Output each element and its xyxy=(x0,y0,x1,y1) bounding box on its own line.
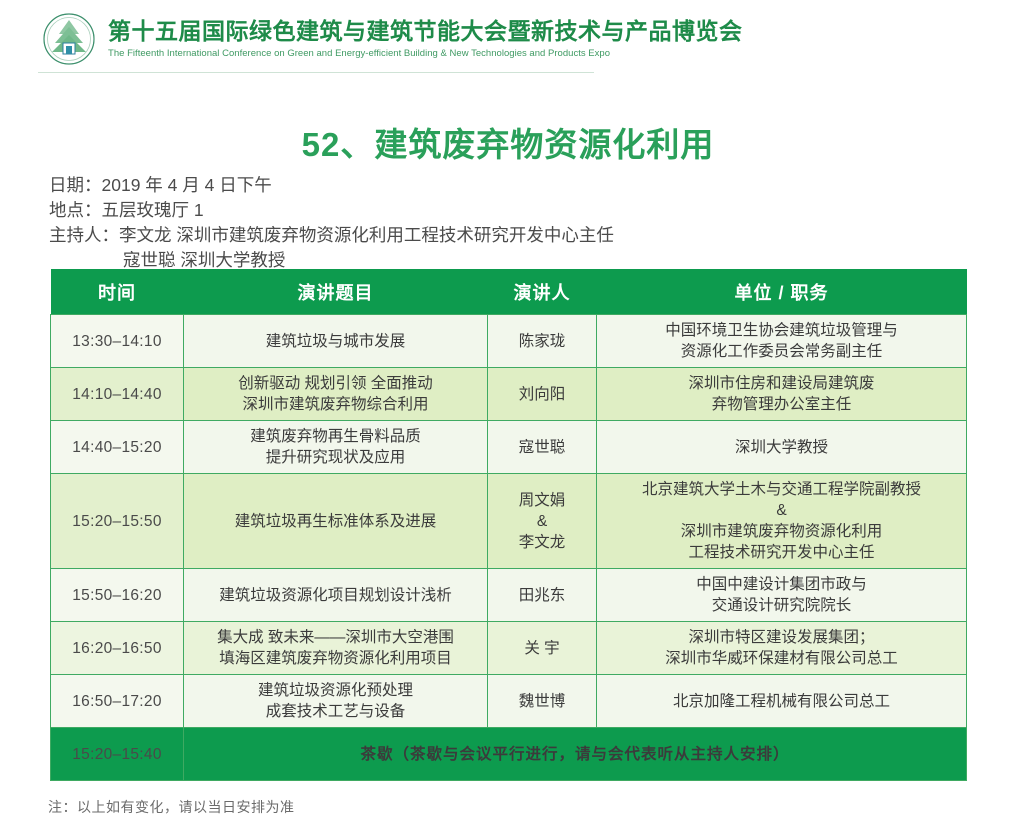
table-row: 15:50–16:20 建筑垃圾资源化项目规划设计浅析 田兆东 中国中建设计集团… xyxy=(51,569,967,622)
cell-time: 16:20–16:50 xyxy=(51,622,184,675)
conference-title-en: The Fifteenth International Conference o… xyxy=(108,48,743,59)
cell-org: 北京加隆工程机械有限公司总工 xyxy=(597,675,967,728)
cell-speaker: 刘向阳 xyxy=(488,368,597,421)
cell-speaker: 周文娟&李文龙 xyxy=(488,474,597,569)
tea-break-row: 15:20–15:40 茶歇（茶歇与会议平行进行，请与会代表听从主持人安排） xyxy=(51,728,967,781)
schedule-table-body: 13:30–14:10 建筑垃圾与城市发展 陈家珑 中国环境卫生协会建筑垃圾管理… xyxy=(51,315,967,781)
meta-date: 日期：2019 年 4 月 4 日下午 xyxy=(49,173,949,198)
conference-header: 第十五届国际绿色建筑与建筑节能大会暨新技术与产品博览会 The Fifteent… xyxy=(0,0,1016,78)
page-title: 52、建筑废弃物资源化利用 xyxy=(0,118,1016,166)
session-meta: 日期：2019 年 4 月 4 日下午 地点：五层玫瑰厅 1 主持人：李文龙 深… xyxy=(49,173,949,273)
cell-speaker: 寇世聪 xyxy=(488,421,597,474)
cell-topic: 建筑垃圾资源化项目规划设计浅析 xyxy=(184,569,488,622)
cell-time: 14:10–14:40 xyxy=(51,368,184,421)
meta-host-primary: 主持人：李文龙 深圳市建筑废弃物资源化利用工程技术研究开发中心主任 xyxy=(49,223,949,248)
cell-time: 14:40–15:20 xyxy=(51,421,184,474)
cell-org: 深圳市特区建设发展集团；深圳市华威环保建材有限公司总工 xyxy=(597,622,967,675)
conference-title-cn: 第十五届国际绿色建筑与建筑节能大会暨新技术与产品博览会 xyxy=(108,19,743,45)
cell-org: 深圳大学教授 xyxy=(597,421,967,474)
table-row: 14:40–15:20 建筑废弃物再生骨料品质提升研究现状及应用 寇世聪 深圳大… xyxy=(51,421,967,474)
cell-topic: 创新驱动 规划引领 全面推动深圳市建筑废弃物综合利用 xyxy=(184,368,488,421)
schedule-table-wrap: 时间 演讲题目 演讲人 单位 / 职务 13:30–14:10 建筑垃圾与城市发… xyxy=(50,269,966,781)
conference-emblem-logo xyxy=(38,10,100,68)
cell-org: 北京建筑大学土木与交通工程学院副教授&深圳市建筑废弃物资源化利用工程技术研究开发… xyxy=(597,474,967,569)
cell-time: 16:50–17:20 xyxy=(51,675,184,728)
header-divider xyxy=(38,72,594,73)
table-row: 13:30–14:10 建筑垃圾与城市发展 陈家珑 中国环境卫生协会建筑垃圾管理… xyxy=(51,315,967,368)
cell-topic: 集大成 致未来——深圳市大空港围填海区建筑废弃物资源化利用项目 xyxy=(184,622,488,675)
column-header-time: 时间 xyxy=(51,269,184,315)
table-row: 14:10–14:40 创新驱动 规划引领 全面推动深圳市建筑废弃物综合利用 刘… xyxy=(51,368,967,421)
cell-time: 15:50–16:20 xyxy=(51,569,184,622)
cell-speaker: 田兆东 xyxy=(488,569,597,622)
table-row: 15:20–15:50 建筑垃圾再生标准体系及进展 周文娟&李文龙 北京建筑大学… xyxy=(51,474,967,569)
cell-topic: 建筑垃圾与城市发展 xyxy=(184,315,488,368)
conference-emblem-icon xyxy=(40,11,98,67)
cell-speaker: 关 宇 xyxy=(488,622,597,675)
table-row: 16:20–16:50 集大成 致未来——深圳市大空港围填海区建筑废弃物资源化利… xyxy=(51,622,967,675)
cell-topic: 建筑垃圾再生标准体系及进展 xyxy=(184,474,488,569)
column-header-speaker: 演讲人 xyxy=(488,269,597,315)
table-row: 16:50–17:20 建筑垃圾资源化预处理成套技术工艺与设备 魏世博 北京加隆… xyxy=(51,675,967,728)
schedule-table: 时间 演讲题目 演讲人 单位 / 职务 13:30–14:10 建筑垃圾与城市发… xyxy=(50,269,967,781)
meta-venue: 地点：五层玫瑰厅 1 xyxy=(49,198,949,223)
column-header-topic: 演讲题目 xyxy=(184,269,488,315)
cell-topic: 建筑垃圾资源化预处理成套技术工艺与设备 xyxy=(184,675,488,728)
cell-org: 中国中建设计集团市政与交通设计研究院院长 xyxy=(597,569,967,622)
column-header-org: 单位 / 职务 xyxy=(597,269,967,315)
tea-break-time: 15:20–15:40 xyxy=(51,728,184,781)
cell-time: 13:30–14:10 xyxy=(51,315,184,368)
conference-header-text: 第十五届国际绿色建筑与建筑节能大会暨新技术与产品博览会 The Fifteent… xyxy=(108,19,743,60)
table-header-row: 时间 演讲题目 演讲人 单位 / 职务 xyxy=(51,269,967,315)
cell-org: 中国环境卫生协会建筑垃圾管理与资源化工作委员会常务副主任 xyxy=(597,315,967,368)
cell-org: 深圳市住房和建设局建筑废弃物管理办公室主任 xyxy=(597,368,967,421)
tea-break-text: 茶歇（茶歇与会议平行进行，请与会代表听从主持人安排） xyxy=(184,728,967,781)
cell-time: 15:20–15:50 xyxy=(51,474,184,569)
footer-note: 注：以上如有变化，请以当日安排为准 xyxy=(48,797,295,817)
cell-topic: 建筑废弃物再生骨料品质提升研究现状及应用 xyxy=(184,421,488,474)
cell-speaker: 陈家珑 xyxy=(488,315,597,368)
cell-speaker: 魏世博 xyxy=(488,675,597,728)
